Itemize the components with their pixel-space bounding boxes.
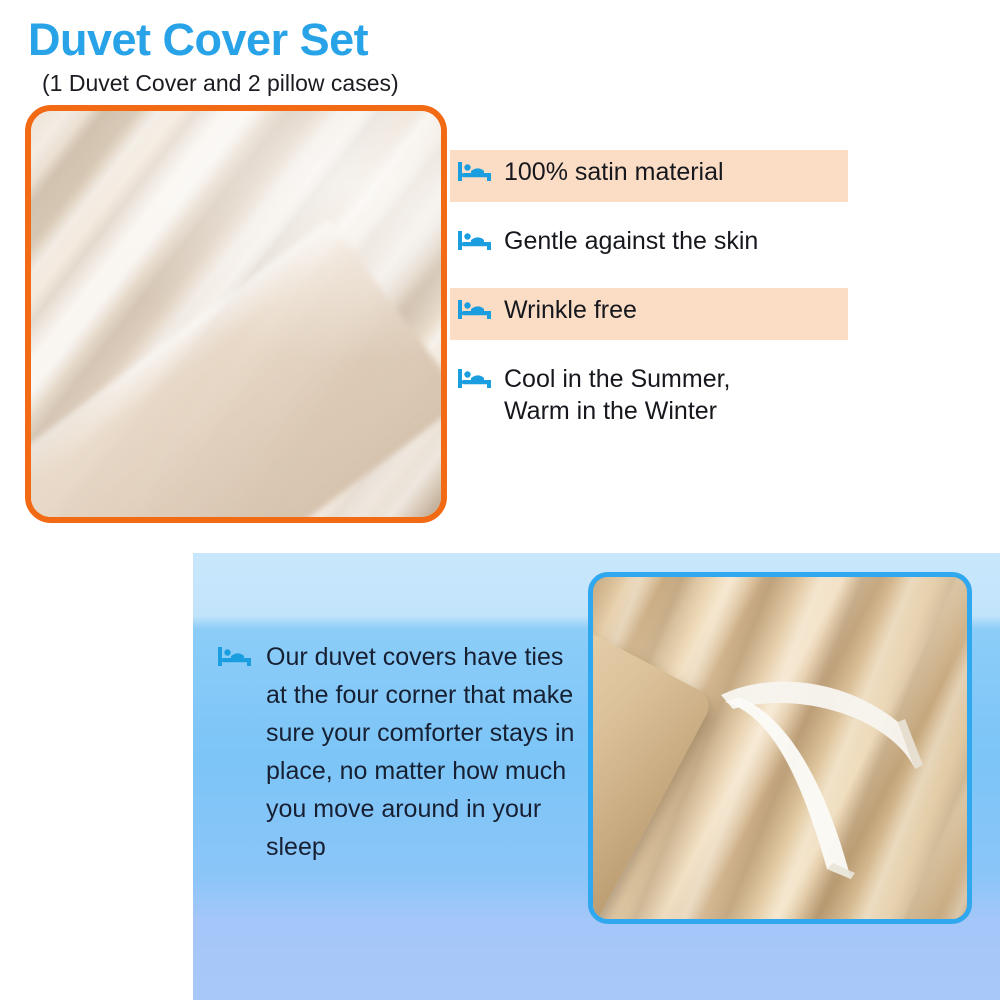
- bed-icon: [458, 366, 498, 390]
- feature-item-gentle-skin: Gentle against the skin: [450, 219, 848, 271]
- tie-description-text: Our duvet covers have ties at the four c…: [258, 638, 578, 866]
- tie-description: Our duvet covers have ties at the four c…: [218, 638, 578, 866]
- feature-label: Wrinkle free: [498, 294, 637, 326]
- white-ribbon-ties: [593, 577, 967, 919]
- feature-label: Gentle against the skin: [498, 225, 758, 257]
- bed-icon: [458, 297, 498, 321]
- bed-icon: [458, 228, 498, 252]
- feature-spacer: [450, 340, 848, 357]
- bed-icon: [218, 644, 258, 668]
- feature-label: Cool in the Summer, Warm in the Winter: [498, 363, 731, 427]
- satin-sheen: [31, 111, 441, 517]
- bed-icon: [458, 159, 498, 183]
- page-subtitle: (1 Duvet Cover and 2 pillow cases): [42, 70, 399, 97]
- feature-spacer: [450, 202, 848, 219]
- hero-satin-photo: [25, 105, 447, 523]
- feature-list: 100% satin material Gentle against the s…: [450, 150, 848, 433]
- tie-detail-photo: [588, 572, 972, 924]
- feature-item-temperature: Cool in the Summer, Warm in the Winter: [450, 357, 848, 433]
- feature-item-wrinkle-free: Wrinkle free: [450, 288, 848, 340]
- feature-label: 100% satin material: [498, 156, 724, 188]
- feature-spacer: [450, 271, 848, 288]
- page-title: Duvet Cover Set: [28, 14, 368, 66]
- feature-item-satin-material: 100% satin material: [450, 150, 848, 202]
